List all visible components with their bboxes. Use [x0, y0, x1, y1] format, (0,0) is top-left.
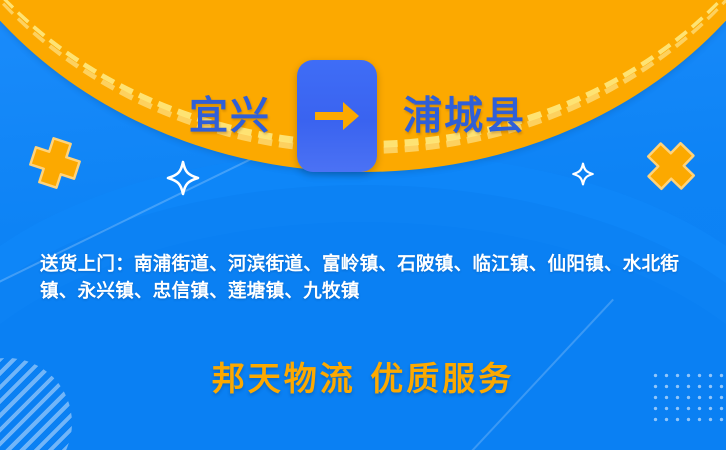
delivery-coverage-text: 送货上门：南浦街道、河滨街道、富岭镇、石陂镇、临江镇、仙阳镇、水北街镇、永兴镇、… [40, 252, 696, 306]
route-header: 宜兴 浦城县 [0, 60, 726, 172]
origin-city-label: 宜兴 [153, 97, 271, 136]
arrow-right-icon [297, 60, 377, 172]
destination-city-label: 浦城县 [403, 97, 573, 136]
company-slogan: 邦天物流 优质服务 [0, 362, 726, 395]
logistics-route-banner: 宜兴 浦城县 送货上门：南浦街道、河滨街道、富岭镇、石陂镇、临江镇、仙阳镇、水北… [0, 0, 726, 450]
